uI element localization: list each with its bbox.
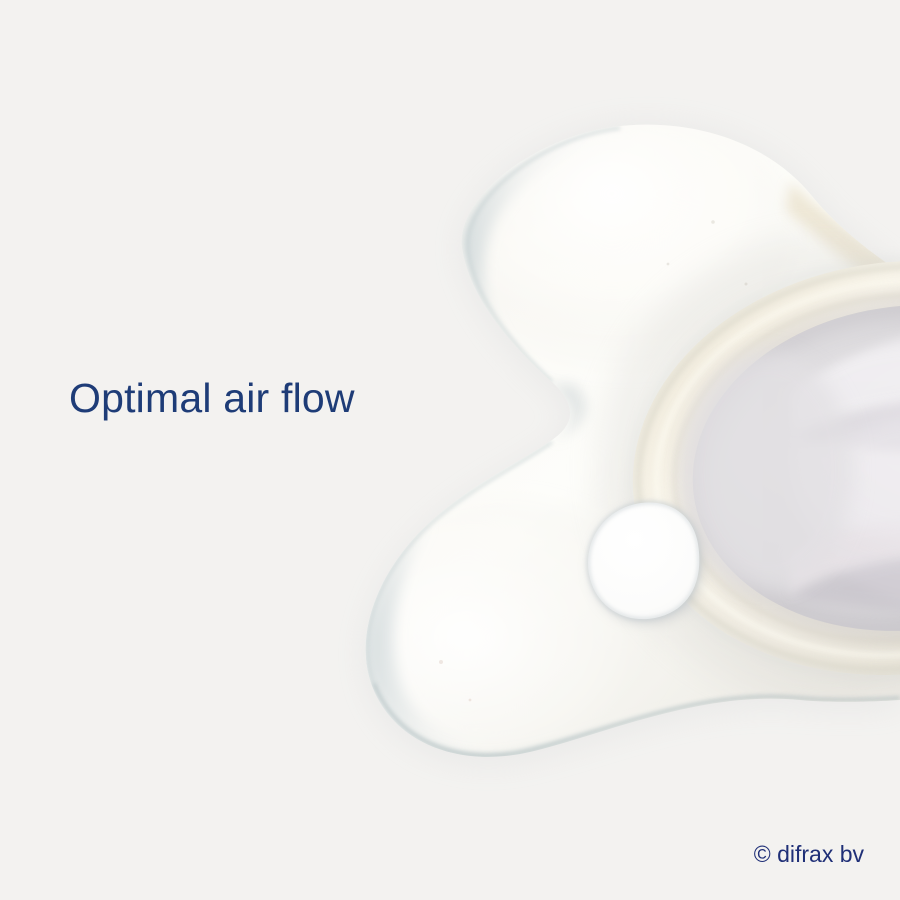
vent-hole-group — [588, 502, 702, 623]
cavity-floor-left — [682, 352, 854, 588]
pacifier-illustration — [0, 0, 900, 900]
product-photo — [0, 0, 900, 900]
headline-caption: Optimal air flow — [69, 378, 355, 419]
product-image-canvas: Optimal air flow © difrax bv — [0, 0, 900, 900]
copyright-notice: © difrax bv — [754, 843, 864, 866]
